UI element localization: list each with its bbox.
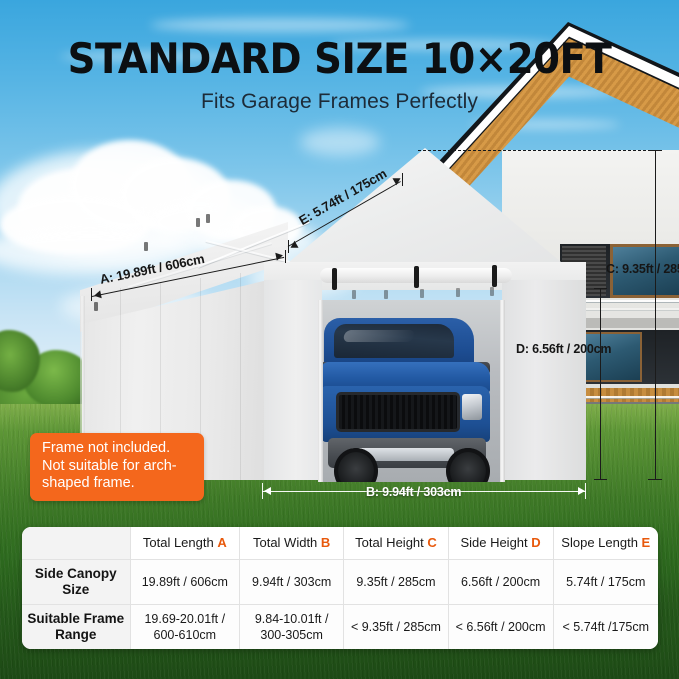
canopy-front-wall-left xyxy=(264,280,322,480)
spec-table-head: Total Length A Total Width B Total Heigh… xyxy=(22,527,658,559)
row-header-suitable-frame-range: Suitable Frame Range xyxy=(22,604,130,649)
dimension-label-d-line2: 200cm xyxy=(573,342,611,356)
cell-text: < 6.56ft / 200cm xyxy=(452,619,550,635)
row-header-line1: Side Canopy xyxy=(35,566,117,581)
dimension-label-b: B: 9.94ft / 303cm xyxy=(366,485,461,499)
dimension-cap-c-bottom xyxy=(648,479,662,480)
column-key-a: A xyxy=(217,535,226,550)
dimension-cap-d-bottom xyxy=(594,479,607,480)
spec-table-body: Side Canopy Size 19.89ft / 606cm 9.94ft … xyxy=(22,559,658,649)
cell-text: < 5.74ft /175cm xyxy=(557,619,655,635)
dimension-tick-a-end xyxy=(285,250,286,263)
dimension-label-c: C: 9.35ft / 285cm xyxy=(606,262,679,277)
row-header-line2: Range xyxy=(55,627,96,642)
column-key-c: C xyxy=(427,535,436,550)
dimension-arrow-a-left xyxy=(93,290,101,299)
dimension-arrow-b-left xyxy=(264,487,271,495)
canopy-front-wall-right xyxy=(502,280,586,480)
specification-table: Total Length A Total Width B Total Heigh… xyxy=(22,527,658,649)
cell-text-line1: 9.84-10.01ft / xyxy=(243,611,340,627)
dimension-tick-e-end xyxy=(402,173,403,186)
column-header-side-height-text: Side Height xyxy=(460,535,527,550)
column-header-total-width-text: Total Width xyxy=(253,535,317,550)
page-title: STANDARD SIZE 10×20FT xyxy=(27,38,652,81)
column-header-slope-length: Slope Length E xyxy=(553,527,658,559)
dimension-cap-b-left xyxy=(262,483,263,499)
cell-canopy-total-height: 9.35ft / 285cm xyxy=(344,559,448,604)
dimension-label-c-line1: C: 9.35ft / xyxy=(606,262,660,276)
dimension-label-c-line2: 285cm xyxy=(663,262,679,276)
cell-text-line2: 600-610cm xyxy=(134,627,236,643)
column-header-slope-length-text: Slope Length xyxy=(561,535,638,550)
column-key-d: D xyxy=(531,535,540,550)
page-subtitle: Fits Garage Frames Perfectly xyxy=(0,90,679,114)
dimension-label-d: D: 6.56ft / 200cm xyxy=(516,342,611,357)
cell-frame-total-height: < 9.35ft / 285cm xyxy=(344,604,448,649)
cell-frame-total-length: 19.69-20.01ft / 600-610cm xyxy=(130,604,239,649)
dimension-line-c xyxy=(655,150,656,480)
dimension-tick-a-start xyxy=(91,288,92,301)
dimension-arrow-a-right xyxy=(275,251,283,260)
column-header-total-width: Total Width B xyxy=(240,527,344,559)
cell-text: 5.74ft / 175cm xyxy=(557,574,655,590)
column-header-total-height: Total Height C xyxy=(344,527,448,559)
dimension-cap-b-right xyxy=(585,483,586,499)
parked-pickup-truck xyxy=(322,300,504,482)
title-block: STANDARD SIZE 10×20FT Fits Garage Frames… xyxy=(0,38,679,114)
cell-canopy-total-width: 9.94ft / 303cm xyxy=(240,559,344,604)
ridge-extension-dashed-line xyxy=(418,150,656,151)
column-header-total-height-text: Total Height xyxy=(355,535,424,550)
table-corner-cell xyxy=(22,527,130,559)
dimension-label-d-line1: D: 6.56ft / xyxy=(516,342,570,356)
column-key-b: B xyxy=(321,535,330,550)
cell-frame-slope-length: < 5.74ft /175cm xyxy=(553,604,658,649)
spec-table-container: Total Length A Total Width B Total Heigh… xyxy=(22,527,658,649)
dimension-line-d xyxy=(600,288,601,480)
row-header-line2: Size xyxy=(62,582,89,597)
cell-text: 6.56ft / 200cm xyxy=(452,574,550,590)
cell-frame-side-height: < 6.56ft / 200cm xyxy=(448,604,553,649)
cell-text: < 9.35ft / 285cm xyxy=(347,619,444,635)
dimension-cap-d-top xyxy=(594,288,607,289)
column-key-e: E xyxy=(642,535,651,550)
dimension-cap-c-top xyxy=(648,150,662,151)
cell-canopy-total-length: 19.89ft / 606cm xyxy=(130,559,239,604)
cell-canopy-side-height: 6.56ft / 200cm xyxy=(448,559,553,604)
cell-text: 9.94ft / 303cm xyxy=(243,574,340,590)
infographic-scene: A: 19.89ft / 606cm E: 5.74ft / 175cm C: … xyxy=(0,0,679,679)
disclaimer-callout: Frame not included. Not suitable for arc… xyxy=(30,433,204,501)
column-header-side-height: Side Height D xyxy=(448,527,553,559)
cell-text: 9.35ft / 285cm xyxy=(347,574,444,590)
callout-line-1: Frame not included. xyxy=(42,440,170,456)
cell-text-line1: 19.69-20.01ft / xyxy=(134,611,236,627)
table-row: Side Canopy Size 19.89ft / 606cm 9.94ft … xyxy=(22,559,658,604)
dimension-arrow-b-right xyxy=(578,487,585,495)
cell-text: 19.89ft / 606cm xyxy=(134,574,236,590)
table-row: Suitable Frame Range 19.69-20.01ft / 600… xyxy=(22,604,658,649)
table-header-row: Total Length A Total Width B Total Heigh… xyxy=(22,527,658,559)
cell-frame-total-width: 9.84-10.01ft / 300-305cm xyxy=(240,604,344,649)
column-header-total-length: Total Length A xyxy=(130,527,239,559)
cell-text-line2: 300-305cm xyxy=(243,627,340,643)
callout-line-2: Not suitable for xyxy=(42,458,140,474)
row-header-side-canopy-size: Side Canopy Size xyxy=(22,559,130,604)
row-header-line1: Suitable Frame xyxy=(27,611,124,626)
column-header-total-length-text: Total Length xyxy=(143,535,214,550)
cell-canopy-slope-length: 5.74ft / 175cm xyxy=(553,559,658,604)
